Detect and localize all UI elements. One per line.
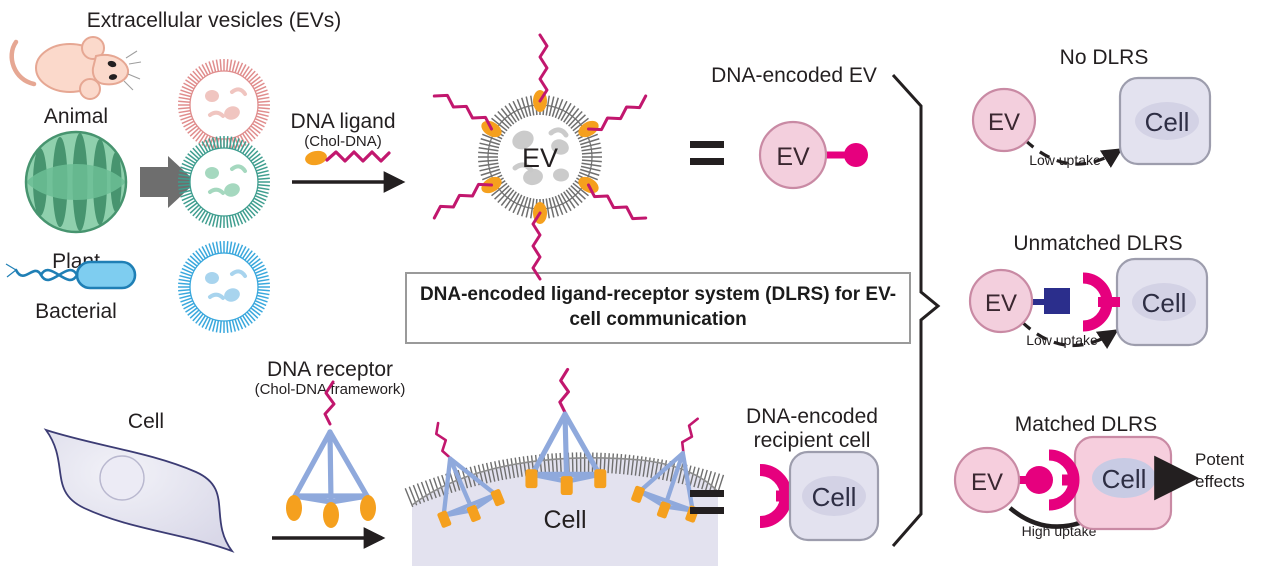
bacteria-icon (6, 262, 135, 288)
outcome0-cell-label: Cell (1145, 107, 1190, 137)
vesicle-bacterial (178, 241, 270, 333)
outcome2-cell-label: Cell (1102, 464, 1147, 494)
dna-encoded-ev-symbol: EV (760, 122, 868, 188)
outcome-panel-unmatched-dlrs: Cell EV (970, 259, 1207, 346)
outcome-panel-matched-dlrs: Cell EV (955, 437, 1192, 529)
unmatched-receptor-glyph (1083, 278, 1120, 326)
equals-sign-top (690, 141, 724, 165)
fibroblast-cell-icon (46, 430, 232, 551)
vesicle-plant (178, 136, 270, 228)
outcome1-cell-label: Cell (1142, 288, 1187, 318)
diagram-canvas: Extracellular vesicles (EVs) Animal Plan… (0, 0, 1270, 566)
outcome2-ev-label: EV (971, 469, 1003, 496)
ev-particle: EV (478, 95, 602, 219)
membrane-tetrahedron (525, 369, 606, 495)
matched-receptor-glyph (1049, 455, 1078, 505)
outcome-panel-no-dlrs: Cell EV (973, 78, 1210, 164)
chol-dna-ligand-glyph (304, 149, 389, 167)
watermelon-icon (26, 132, 126, 232)
cell-symbol-core-label: Cell (812, 482, 857, 512)
artwork-layer: EV EV (0, 0, 1270, 566)
outcome1-ev-label: EV (985, 290, 1017, 317)
mouse-icon (12, 37, 141, 99)
dna-tetrahedron-receptor (286, 382, 376, 528)
unmatched-ligand-glyph (1028, 288, 1070, 314)
outcome0-ev-label: EV (988, 109, 1020, 136)
ev-particle-core-label: EV (522, 143, 558, 173)
membrane-cell-label: Cell (543, 506, 586, 534)
grouping-brace (893, 75, 938, 546)
dna-encoded-cell-symbol: Cell (760, 452, 878, 540)
ev-symbol-core-label: EV (776, 143, 810, 171)
